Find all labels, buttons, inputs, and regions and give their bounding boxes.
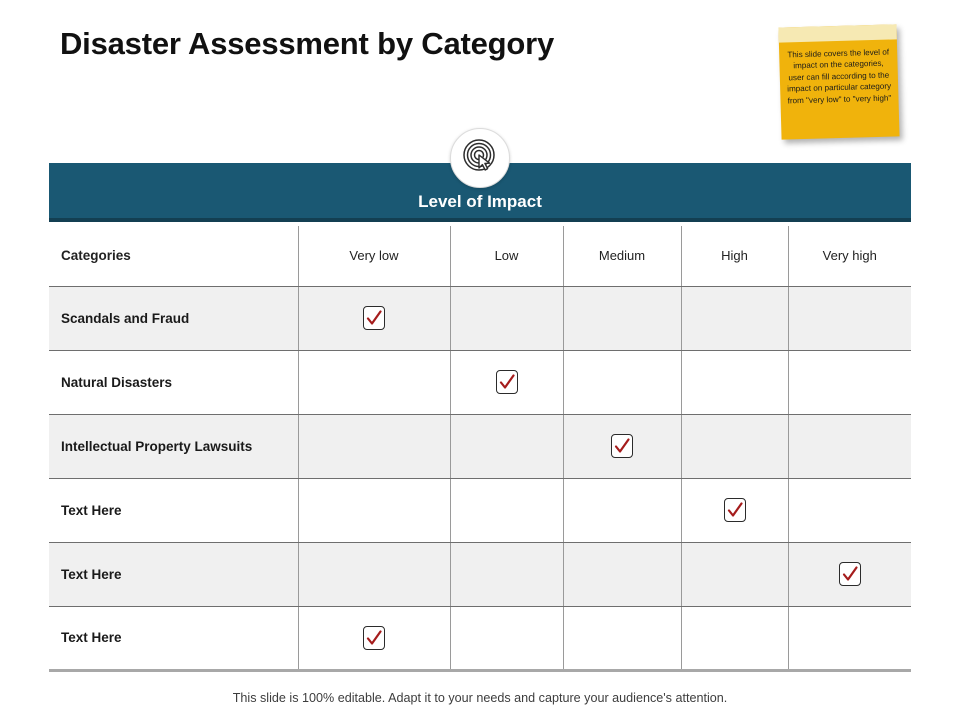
impact-cell[interactable] [563,478,681,542]
impact-checkbox[interactable] [839,562,861,586]
sticky-note-tape [778,24,896,42]
table-row: Text Here [49,542,911,606]
category-label: Text Here [49,606,298,670]
impact-cell[interactable] [563,606,681,670]
impact-cell[interactable] [788,350,911,414]
impact-cell[interactable] [681,606,788,670]
impact-assessment-table: Categories Very low Low Medium High Very… [49,226,911,672]
impact-cell[interactable] [681,286,788,350]
table-body: Scandals and FraudNatural DisastersIntel… [49,286,911,670]
sticky-note-body: This slide covers the level of impact on… [778,24,899,139]
impact-checkbox[interactable] [724,498,746,522]
impact-checkbox[interactable] [611,434,633,458]
table-row: Natural Disasters [49,350,911,414]
impact-cell[interactable] [298,350,450,414]
column-header-high: High [681,226,788,286]
impact-cell[interactable] [563,286,681,350]
column-header-very-high: Very high [788,226,911,286]
impact-cell[interactable] [450,478,563,542]
table-row: Text Here [49,606,911,670]
impact-cell[interactable] [788,542,911,606]
impact-cell[interactable] [788,414,911,478]
impact-cell[interactable] [450,350,563,414]
table-row: Intellectual Property Lawsuits [49,414,911,478]
impact-cell[interactable] [788,478,911,542]
impact-checkbox[interactable] [363,626,385,650]
table-row: Scandals and Fraud [49,286,911,350]
check-icon [726,500,744,520]
impact-cell[interactable] [298,606,450,670]
impact-cell[interactable] [298,542,450,606]
fingerprint-cursor-icon [461,137,499,180]
impact-checkbox[interactable] [496,370,518,394]
impact-cell[interactable] [450,414,563,478]
impact-cell[interactable] [563,350,681,414]
impact-cell[interactable] [681,414,788,478]
sticky-note: This slide covers the level of impact on… [778,24,899,139]
sticky-note-text: This slide covers the level of impact on… [785,47,893,107]
table-header-row: Categories Very low Low Medium High Very… [49,226,911,286]
impact-badge [450,128,510,188]
impact-level-band-label: Level of Impact [49,192,911,212]
footer-note: This slide is 100% editable. Adapt it to… [0,691,960,705]
impact-cell[interactable] [450,286,563,350]
column-header-low: Low [450,226,563,286]
column-header-categories: Categories [49,226,298,286]
impact-cell[interactable] [681,350,788,414]
table-row: Text Here [49,478,911,542]
category-label: Text Here [49,478,298,542]
impact-cell[interactable] [788,606,911,670]
check-icon [498,372,516,392]
category-label: Natural Disasters [49,350,298,414]
impact-cell[interactable] [298,414,450,478]
page-title: Disaster Assessment by Category [60,26,554,62]
impact-cell[interactable] [298,478,450,542]
impact-cell[interactable] [788,286,911,350]
impact-cell[interactable] [681,542,788,606]
impact-cell[interactable] [563,414,681,478]
impact-cell[interactable] [563,542,681,606]
impact-cell[interactable] [450,606,563,670]
impact-cell[interactable] [298,286,450,350]
category-label: Intellectual Property Lawsuits [49,414,298,478]
table-header: Categories Very low Low Medium High Very… [49,226,911,286]
column-header-medium: Medium [563,226,681,286]
check-icon [365,308,383,328]
check-icon [365,628,383,648]
check-icon [613,436,631,456]
category-label: Scandals and Fraud [49,286,298,350]
impact-checkbox[interactable] [363,306,385,330]
column-header-very-low: Very low [298,226,450,286]
impact-cell[interactable] [681,478,788,542]
check-icon [841,564,859,584]
slide-canvas: Disaster Assessment by Category This sli… [0,0,960,720]
category-label: Text Here [49,542,298,606]
impact-cell[interactable] [450,542,563,606]
